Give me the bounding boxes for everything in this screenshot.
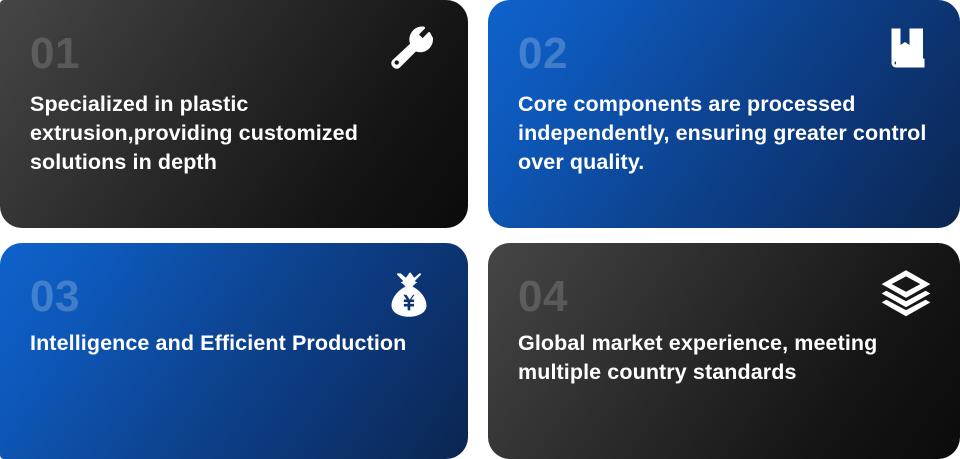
feature-card-02[interactable]: 02 Core components are processed indepen…: [488, 0, 960, 228]
money-bag-yen-icon: [382, 267, 436, 321]
card-number-04: 04: [518, 275, 930, 319]
card-text-04: Global market experience, meeting multip…: [518, 329, 930, 387]
card-text-01: Specialized in plastic extrusion,providi…: [30, 90, 438, 176]
layers-stack-icon: [880, 267, 932, 319]
feature-card-grid: 01 Specialized in plastic extrusion,prov…: [0, 0, 960, 459]
book-bookmark-icon: [884, 24, 932, 72]
wrench-icon: [386, 24, 436, 74]
card-text-02: Core components are processed independen…: [518, 90, 930, 176]
card-text-03: Intelligence and Efficient Production: [30, 329, 438, 358]
card-number-02: 02: [518, 32, 930, 76]
feature-card-03[interactable]: 03 Intelligence and Efficient Production: [0, 243, 468, 459]
feature-card-01[interactable]: 01 Specialized in plastic extrusion,prov…: [0, 0, 468, 228]
card-number-01: 01: [30, 32, 438, 76]
card-number-03: 03: [30, 275, 438, 319]
feature-card-04[interactable]: 04 Global market experience, meeting mul…: [488, 243, 960, 459]
